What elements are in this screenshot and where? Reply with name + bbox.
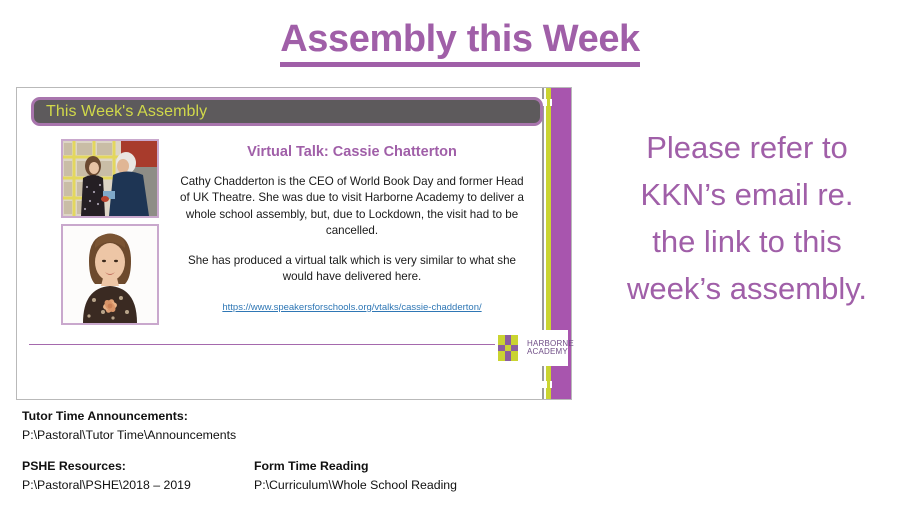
logo-line-2: ACADEMY [527, 348, 574, 356]
talk-link[interactable]: https://www.speakersforschools.org/vtalk… [222, 302, 481, 313]
side-note: Please refer to KKN’s email re. the link… [588, 124, 906, 312]
info-path: P:\Pastoral\Tutor Time\Announcements [22, 426, 236, 445]
info-path: P:\Pastoral\PSHE\2018 – 2019 [22, 476, 191, 495]
info-path: P:\Curriculum\Whole School Reading [254, 476, 457, 495]
info-heading: Tutor Time Announcements: [22, 407, 236, 426]
info-block-form-time-reading: Form Time Reading P:\Curriculum\Whole Sc… [254, 457, 457, 495]
talk-body: Cathy Chadderton is the CEO of World Boo… [177, 174, 527, 286]
photo-art-2 [63, 226, 157, 323]
side-note-line-3: the link to this [588, 218, 906, 265]
slide-header-banner: This Week's Assembly [31, 97, 543, 126]
talk-paragraph-2: She has produced a virtual talk which is… [177, 253, 527, 286]
assembly-slide: This Week's Assembly [16, 87, 572, 400]
page-title-text: Assembly this Week [280, 20, 640, 67]
two-women-at-book-display-photo [61, 139, 159, 218]
info-block-tutor-time: Tutor Time Announcements: P:\Pastoral\Tu… [22, 407, 236, 445]
side-note-line-1: Please refer to [588, 124, 906, 171]
talk-text-column: Virtual Talk: Cassie Chatterton Cathy Ch… [177, 144, 527, 315]
harborne-academy-logo: HARBORNE ACADEMY [495, 330, 568, 366]
side-note-line-4: week’s assembly. [588, 265, 906, 312]
stripe-notch-accent-top [547, 99, 550, 106]
slide-header-label: This Week's Assembly [34, 103, 207, 121]
harborne-h-monogram-icon [497, 334, 523, 362]
stripe-notch-accent-bottom [547, 381, 550, 388]
photo-art-1 [63, 141, 157, 216]
side-note-line-2: KKN’s email re. [588, 171, 906, 218]
logo-h-svg [497, 334, 523, 362]
slide-footer-rule [29, 344, 501, 345]
page-title: Assembly this Week [0, 18, 920, 67]
talk-heading: Virtual Talk: Cassie Chatterton [177, 144, 527, 160]
info-heading: PSHE Resources: [22, 457, 191, 476]
info-heading: Form Time Reading [254, 457, 457, 476]
cassie-chatterton-portrait-photo [61, 224, 159, 325]
info-block-pshe: PSHE Resources: P:\Pastoral\PSHE\2018 – … [22, 457, 191, 495]
talk-paragraph-1: Cathy Chadderton is the CEO of World Boo… [177, 174, 527, 240]
logo-wordmark: HARBORNE ACADEMY [527, 340, 574, 357]
